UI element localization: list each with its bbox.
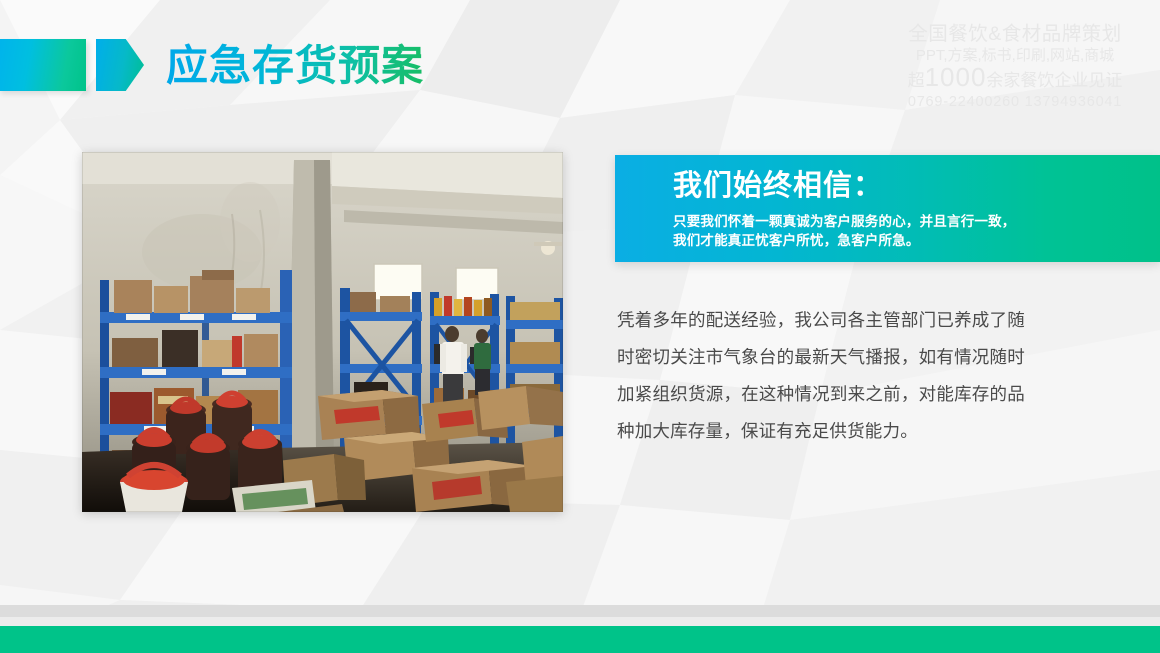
header-accent-block [0, 39, 86, 91]
warehouse-photo [82, 152, 563, 512]
slide-header: 应急存货预案 [0, 0, 1160, 120]
belief-banner-title: 我们始终相信： [673, 169, 883, 203]
footer-gray-band-bottom [0, 617, 1160, 626]
belief-banner-subtitle: 只要我们怀着一颗真诚为客户服务的心，并且言行一致， 我们才能真正忧客户所忧，急客… [673, 212, 1016, 250]
page-title: 应急存货预案 [166, 40, 424, 92]
slide-canvas: 应急存货预案 全国餐饮&食材品牌策划 PPT,方案,标书,印刷,网站,商城 超1… [0, 0, 1160, 653]
footer-green-bar [0, 626, 1160, 653]
body-paragraph: 凭着多年的配送经验，我公司各主管部门已养成了随时密切关注市气象台的最新天气播报，… [617, 302, 1025, 450]
header-arrow-icon [96, 39, 144, 91]
belief-banner-subtitle-line-1: 只要我们怀着一颗真诚为客户服务的心，并且言行一致， [673, 212, 1016, 231]
belief-banner: 我们始终相信： 只要我们怀着一颗真诚为客户服务的心，并且言行一致， 我们才能真正… [615, 155, 1160, 262]
footer-gray-band-top [0, 605, 1160, 617]
warehouse-photo-image [82, 152, 563, 512]
belief-banner-subtitle-line-2: 我们才能真正忧客户所忧，急客户所急。 [673, 231, 1016, 250]
